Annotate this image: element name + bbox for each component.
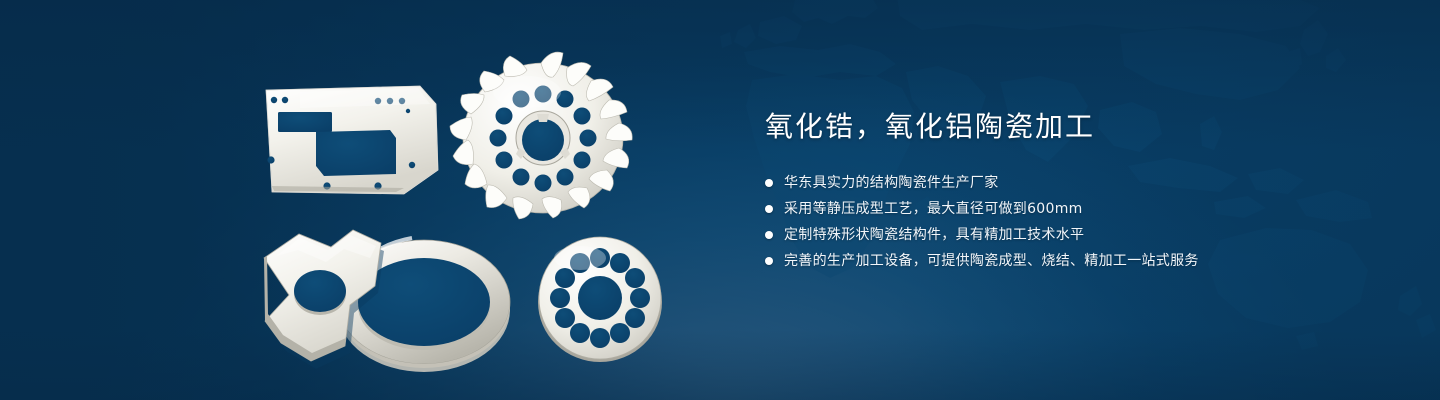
list-item: 定制特殊形状陶瓷结构件，具有精加工技术水平 xyxy=(765,224,1385,246)
page-title: 氧化锆，氧化铝陶瓷加工 xyxy=(765,108,1385,146)
ceramic-perforated-disc-shape xyxy=(538,237,662,362)
ceramic-machined-plate-shape xyxy=(266,86,438,194)
list-item: 华东具实力的结构陶瓷件生产厂家 xyxy=(765,172,1385,194)
list-item-label: 完善的生产加工设备，可提供陶瓷成型、烧结、精加工一站式服务 xyxy=(784,250,1199,272)
bullet-dot-icon xyxy=(765,231,773,239)
ceramic-vane-impeller-shape xyxy=(450,52,632,219)
banner-copy: 氧化锆，氧化铝陶瓷加工 华东具实力的结构陶瓷件生产厂家 采用等静压成型工艺，最大… xyxy=(765,108,1385,276)
bullet-dot-icon xyxy=(765,257,773,265)
list-item-label: 采用等静压成型工艺，最大直径可做到600mm xyxy=(784,198,1083,220)
feature-list: 华东具实力的结构陶瓷件生产厂家 采用等静压成型工艺，最大直径可做到600mm 定… xyxy=(765,172,1385,272)
product-photo-group xyxy=(0,0,720,400)
list-item: 完善的生产加工设备，可提供陶瓷成型、烧结、精加工一站式服务 xyxy=(765,250,1385,272)
bullet-dot-icon xyxy=(765,205,773,213)
list-item-label: 定制特殊形状陶瓷结构件，具有精加工技术水平 xyxy=(784,224,1084,246)
bullet-dot-icon xyxy=(765,179,773,187)
list-item: 采用等静压成型工艺，最大直径可做到600mm xyxy=(765,198,1385,220)
list-item-label: 华东具实力的结构陶瓷件生产厂家 xyxy=(784,172,999,194)
hero-banner: 氧化锆，氧化铝陶瓷加工 华东具实力的结构陶瓷件生产厂家 采用等静压成型工艺，最大… xyxy=(0,0,1440,400)
